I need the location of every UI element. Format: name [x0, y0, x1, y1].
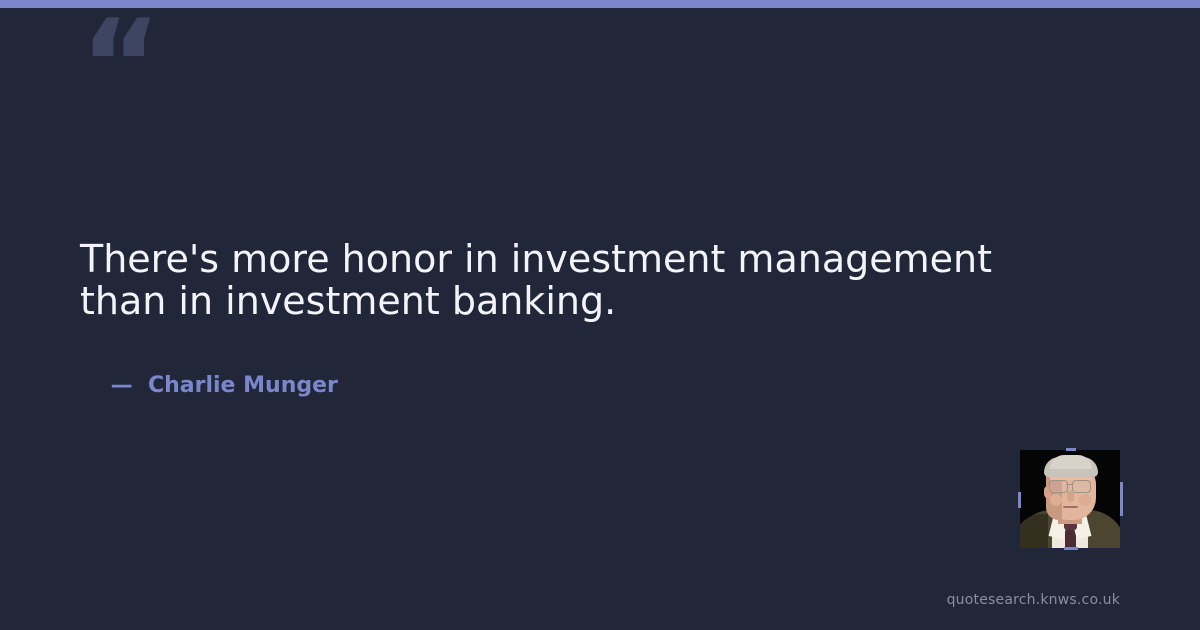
quote-line-2: than in investment banking. — [80, 280, 1090, 322]
portrait-image — [1020, 450, 1120, 548]
author-portrait — [1020, 450, 1120, 548]
quote-attribution: — Charlie Munger — [80, 344, 338, 428]
portrait-glasses-right-lens — [1072, 480, 1091, 493]
quote-line-1: There's more honor in investment managem… — [80, 238, 1090, 280]
portrait-mouth — [1063, 506, 1078, 508]
attribution-dash: — — [111, 373, 133, 398]
portrait-cheek-right — [1079, 494, 1091, 506]
portrait-glasses-bridge — [1066, 484, 1072, 485]
attribution-author: Charlie Munger — [148, 373, 338, 398]
portrait-marker-top — [1066, 448, 1076, 451]
portrait-marker-left — [1018, 492, 1021, 508]
quote-mark-icon: “ — [80, 4, 160, 128]
quote-text: There's more honor in investment managem… — [80, 238, 1090, 322]
portrait-suit-shadow — [1020, 514, 1048, 548]
portrait-glasses-left-lens — [1049, 480, 1068, 493]
top-accent-bar — [0, 0, 1200, 8]
quote-card: “ There's more honor in investment manag… — [0, 0, 1200, 630]
source-url: quotesearch.knws.co.uk — [947, 591, 1120, 609]
portrait-marker-bottom — [1064, 547, 1078, 550]
portrait-nose — [1067, 491, 1074, 502]
portrait-cheek-left — [1050, 494, 1062, 506]
portrait-hair-highlight — [1050, 455, 1092, 469]
portrait-marker-right — [1120, 482, 1123, 516]
